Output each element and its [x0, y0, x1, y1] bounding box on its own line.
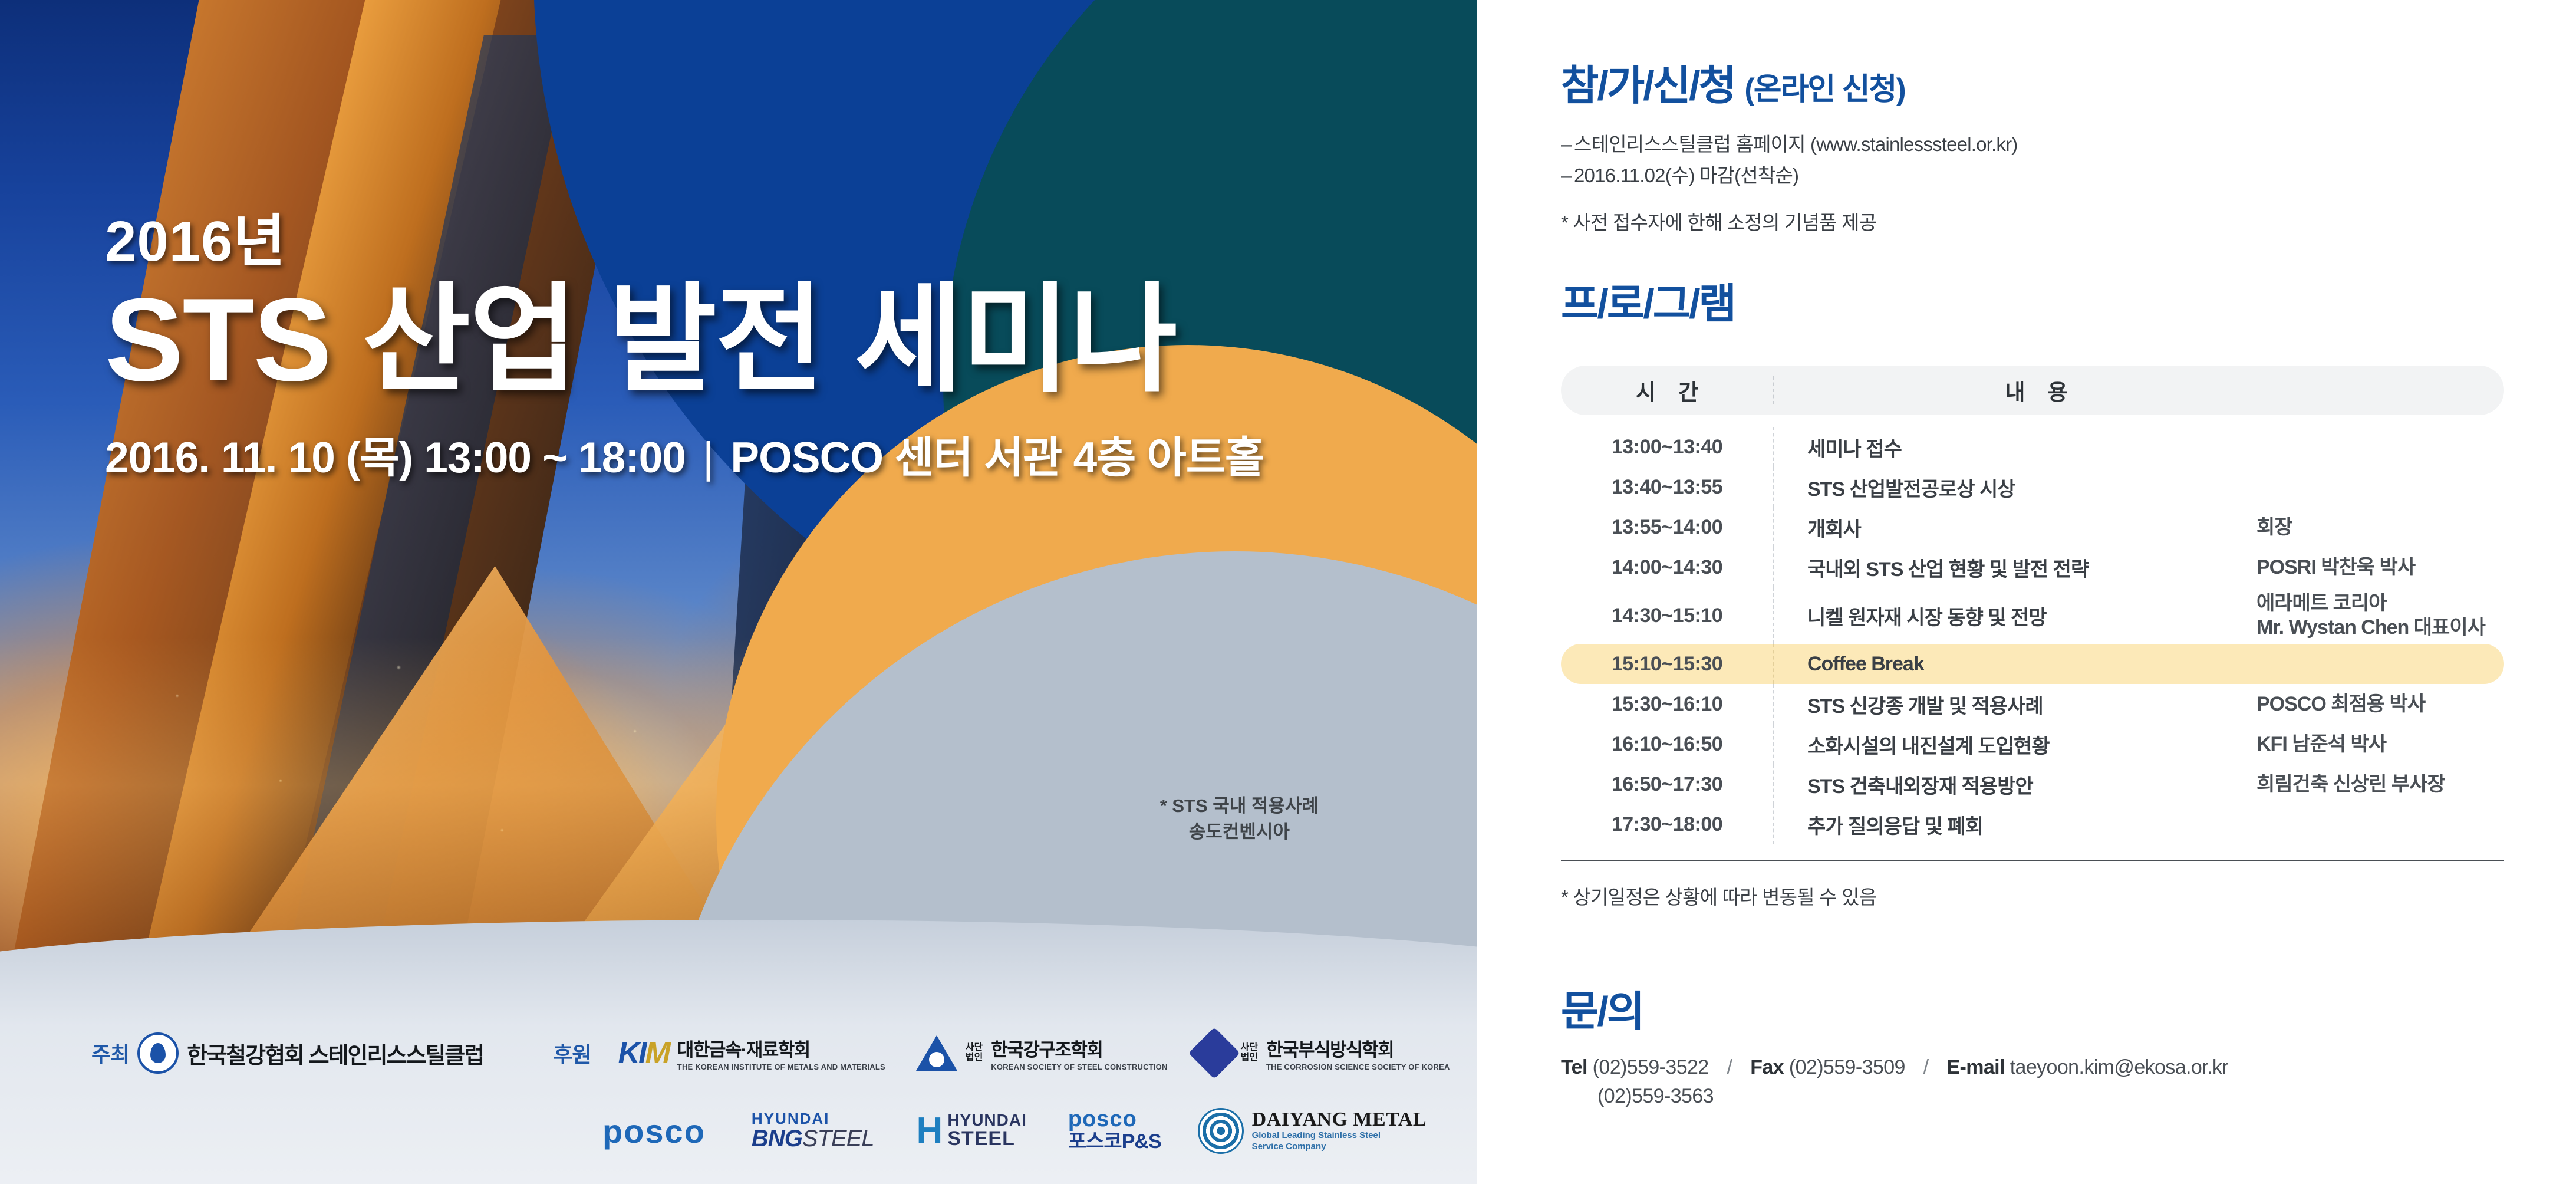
row-9-content: 추가 질의응답 및 폐회	[1774, 810, 2236, 839]
row-2-content: 개회사	[1774, 513, 2236, 542]
row-5-content: Coffee Break	[1774, 653, 2236, 676]
supporter-1-name: 한국강구조학회	[991, 1040, 1102, 1060]
sponsor-row-companies: posco HYUNDAI BNGSTEEL H HYUNDAI STEEL p…	[0, 1090, 1477, 1172]
row-8-content: STS 건축내외장재 적용방안	[1774, 770, 2236, 799]
program-table: 시 간 내 용 13:00~13:40 세미나 접수 13:40~13:55 S…	[1561, 366, 2504, 910]
supporter-0-name: 대한금속·재료학회	[677, 1040, 810, 1060]
bng-steel-logo: HYUNDAI BNGSTEEL	[752, 1111, 874, 1151]
email-value[interactable]: taeyoon.kim@ekosa.or.kr	[2010, 1056, 2228, 1078]
row-2-time: 13:55~14:00	[1561, 516, 1773, 539]
poster-visual-panel: 2016년 STS 산업 발전 세미나 2016. 11. 10 (목) 13:…	[0, 0, 1477, 1184]
column-header-time: 시 간	[1561, 374, 1773, 406]
row-8-time: 16:50~17:30	[1561, 773, 1773, 796]
table-row: 14:30~15:10 니켈 원자재 시장 동향 및 전망 에라메트 코리아 M…	[1561, 587, 2504, 644]
registration-note: * 사전 접수자에 한해 소정의 기념품 제공	[1561, 207, 2534, 235]
bng-steel-main-text: BNG	[752, 1126, 802, 1152]
program-heading: 프/로/그/램	[1561, 283, 1735, 324]
kisa-logo-icon	[137, 1032, 179, 1074]
table-row: 16:50~17:30 STS 건축내외장재 적용방안 희림건축 신상린 부사장	[1561, 764, 2504, 804]
bng-steel-logo-top: HYUNDAI	[752, 1111, 874, 1126]
email-label: E-mail	[1946, 1056, 2004, 1078]
row-7-content: 소화시설의 내진설계 도입현황	[1774, 730, 2236, 759]
row-6-content: STS 신강종 개발 및 적용사례	[1774, 690, 2236, 719]
bullet-dash: –	[1561, 129, 1574, 160]
contact-separator-2: /	[1910, 1056, 1942, 1078]
posco-pns-logo: posco 포스코P&S	[1068, 1108, 1161, 1153]
supporter-0: 대한금속·재료학회 The Korean Institute of Metals…	[677, 1035, 885, 1071]
event-date: 2016. 11. 10 (목)	[105, 434, 413, 482]
daiyang-metal-tagline-2: Service Company	[1252, 1142, 1427, 1153]
row-3-content: 국내외 STS 산업 현황 및 발전 전략	[1774, 553, 2236, 582]
event-datetime-venue: 2016. 11. 10 (목) 13:00 ~ 18:00 | POSCO 센…	[105, 423, 1378, 485]
daiyang-metal-name: DAIYANG METAL	[1252, 1109, 1427, 1130]
host-label: 주최	[91, 1038, 129, 1068]
row-2-speaker: 회장	[2236, 515, 2504, 540]
inquiry-section: 문/의 Tel (02)559-3522 / Fax (02)559-3509 …	[1561, 991, 2534, 1111]
registration-bullets: –스테인리스스틸클럽 홈페이지 (www.stainlesssteel.or.k…	[1561, 129, 2534, 235]
program-heading-wrap: 프/로/그/램	[1561, 283, 1735, 324]
row-1-content: STS 산업발전공로상 시상	[1774, 473, 2236, 502]
event-time: 13:00 ~ 18:00	[424, 434, 686, 482]
table-row: 13:40~13:55 STS 산업발전공로상 시상	[1561, 467, 2504, 507]
table-row: 15:10~15:30 Coffee Break	[1561, 644, 2504, 684]
row-4-speaker-line-2: Mr. Wystan Chen 대표이사	[2257, 616, 2504, 640]
poster-title-block: 2016년 STS 산업 발전 세미나 2016. 11. 10 (목) 13:…	[105, 212, 1378, 485]
hyundai-steel-text: HYUNDAI STEEL	[947, 1112, 1027, 1150]
row-5-time: 15:10~15:30	[1561, 653, 1773, 676]
hyundai-steel-logo: H HYUNDAI STEEL	[917, 1112, 1027, 1150]
hyundai-steel-main: STEEL	[947, 1129, 1027, 1150]
registration-heading-paren: (온라인 신청)	[1744, 73, 1905, 107]
kssc-logo-icon	[916, 1035, 957, 1071]
registration-item-0-text: 스테인리스스틸클럽 홈페이지 (www.stainlesssteel.or.kr…	[1574, 133, 2017, 155]
row-9-time: 17:30~18:00	[1561, 813, 1773, 836]
registration-section: 참/가/신/청 (온라인 신청) –스테인리스스틸클럽 홈페이지 (www.st…	[1561, 65, 2534, 235]
sponsor-row-organizations: 주최 한국철강협회 스테인리스스틸클럽 후원 KIM 대한금속·재료학회 The…	[0, 1018, 1477, 1088]
table-row: 13:00~13:40 세미나 접수	[1561, 427, 2504, 467]
bng-steel-sub-text: STEEL	[802, 1126, 874, 1152]
inquiry-heading: 문/의	[1561, 991, 2534, 1032]
supporter-1-prefix: 사단법인	[966, 1043, 983, 1063]
photo-caption-line-1: * STS 국내 적용사례	[1160, 793, 1319, 819]
tel-value: (02)559-3522	[1593, 1056, 1709, 1078]
support-label: 후원	[553, 1038, 591, 1068]
event-year: 2016년	[105, 212, 1378, 272]
supporter-2-english: The Corrosion Science Society of Korea	[1266, 1063, 1450, 1071]
supporter-2-name: 한국부식방식학회	[1266, 1040, 1394, 1060]
supporter-1-english: Korean Society of Steel Construction	[991, 1063, 1167, 1071]
row-4-time: 14:30~15:10	[1561, 604, 1773, 627]
event-title: STS 산업 발전 세미나	[105, 278, 1378, 403]
posco-logo: posco	[602, 1112, 706, 1150]
posco-pns-main: 포스코P&S	[1068, 1130, 1161, 1153]
row-0-time: 13:00~13:40	[1561, 436, 1773, 459]
table-row: 13:55~14:00 개회사 회장	[1561, 507, 2504, 547]
row-8-speaker: 희림건축 신상린 부사장	[2236, 772, 2504, 797]
row-4-speaker: 에라메트 코리아 Mr. Wystan Chen 대표이사	[2236, 591, 2504, 640]
hyundai-steel-top: HYUNDAI	[947, 1112, 1027, 1129]
host-organization-name: 한국철강협회 스테인리스스틸클럽	[187, 1037, 483, 1070]
row-1-time: 13:40~13:55	[1561, 476, 1773, 499]
registration-heading-text: 참/가/신/청	[1561, 63, 1735, 108]
row-3-speaker: POSRI 박찬욱 박사	[2236, 555, 2504, 580]
tel-value-secondary: (02)559-3563	[1561, 1082, 2534, 1111]
registration-item-1: –2016.11.02(수) 마감(선착순)	[1561, 160, 2534, 191]
daiyang-metal-logo: DAIYANG METAL Global Leading Stainless S…	[1252, 1109, 1427, 1152]
program-table-header: 시 간 내 용	[1561, 366, 2504, 415]
csk-logo-icon	[1188, 1027, 1240, 1079]
fax-value: (02)559-3509	[1789, 1056, 1905, 1078]
row-0-content: 세미나 접수	[1774, 433, 2236, 462]
subtitle-separator: |	[697, 434, 719, 482]
table-row: 16:10~16:50 소화시설의 내진설계 도입현황 KFI 남준석 박사	[1561, 724, 2504, 764]
photo-caption: * STS 국내 적용사례 송도컨벤시아	[1160, 793, 1319, 845]
posco-pns-top: posco	[1068, 1108, 1161, 1130]
program-table-bottom-rule	[1561, 860, 2504, 861]
poster-info-panel: 참/가/신/청 (온라인 신청) –스테인리스스틸클럽 홈페이지 (www.st…	[1477, 0, 2576, 1184]
registration-item-0: –스테인리스스틸클럽 홈페이지 (www.stainlesssteel.or.k…	[1561, 129, 2534, 160]
bullet-dash: –	[1561, 160, 1574, 191]
row-4-content: 니켈 원자재 시장 동향 및 전망	[1774, 601, 2236, 630]
row-6-speaker: POSCO 최점용 박사	[2236, 692, 2504, 716]
tel-label: Tel	[1561, 1056, 1587, 1078]
registration-item-1-text: 2016.11.02(수) 마감(선착순)	[1574, 165, 1798, 186]
table-row: 17:30~18:00 추가 질의응답 및 폐회	[1561, 804, 2504, 844]
row-4-speaker-line-1: 에라메트 코리아	[2257, 592, 2386, 614]
hyundai-steel-mark-icon: H	[917, 1116, 943, 1146]
row-6-time: 15:30~16:10	[1561, 693, 1773, 716]
column-header-content: 내 용	[1775, 374, 2504, 406]
daiyang-metal-tagline-1: Global Leading Stainless Steel	[1252, 1130, 1427, 1142]
supporter-1: 한국강구조학회 Korean Society of Steel Construc…	[991, 1035, 1167, 1071]
supporter-0-english: The Korean Institute of Metals and Mater…	[677, 1063, 885, 1071]
photo-caption-line-2: 송도컨벤시아	[1160, 819, 1319, 845]
contact-info: Tel (02)559-3522 / Fax (02)559-3509 / E-…	[1561, 1053, 2534, 1111]
table-row: 14:00~14:30 국내외 STS 산업 현황 및 발전 전략 POSRI …	[1561, 547, 2504, 587]
row-7-speaker: KFI 남준석 박사	[2236, 732, 2504, 757]
row-3-time: 14:00~14:30	[1561, 556, 1773, 579]
supporter-2-prefix: 사단법인	[1241, 1043, 1258, 1063]
row-7-time: 16:10~16:50	[1561, 733, 1773, 756]
fax-label: Fax	[1750, 1056, 1784, 1078]
table-row: 15:30~16:10 STS 신강종 개발 및 적용사례 POSCO 최점용 …	[1561, 684, 2504, 724]
registration-heading: 참/가/신/청 (온라인 신청)	[1561, 65, 2534, 106]
program-footnote: * 상기일정은 상황에 따라 변동될 수 있음	[1561, 882, 2504, 910]
seminar-poster: 2016년 STS 산업 발전 세미나 2016. 11. 10 (목) 13:…	[0, 0, 2576, 1184]
event-venue: POSCO 센터 서관 4층 아트홀	[730, 434, 1264, 482]
bng-steel-logo-main: BNGSTEEL	[752, 1126, 874, 1151]
kim-logo-icon: KIM	[618, 1035, 668, 1071]
contact-separator-1: /	[1714, 1056, 1745, 1078]
supporter-2: 한국부식방식학회 The Corrosion Science Society o…	[1266, 1035, 1450, 1071]
daiyang-metal-mark-icon	[1198, 1108, 1244, 1154]
